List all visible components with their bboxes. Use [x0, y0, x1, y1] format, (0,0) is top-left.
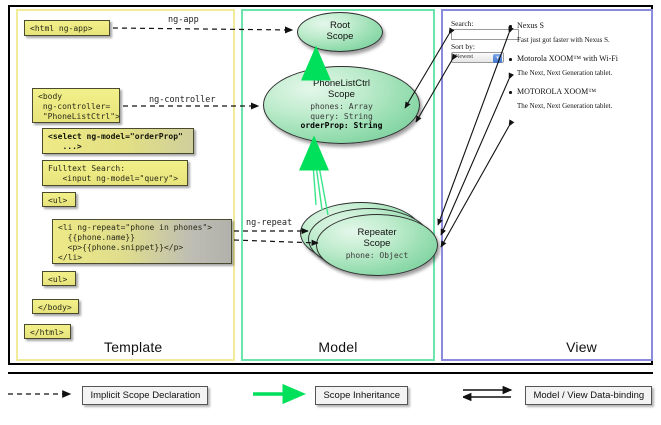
- scope-property: query: String: [264, 112, 419, 122]
- code-box-select-tag: <select ng-model="orderProp" ...>: [42, 128, 194, 154]
- panel-model: Model: [241, 9, 435, 361]
- code-box-body-close-tag: </body>: [32, 299, 79, 314]
- dashed-arrow-icon: [8, 384, 78, 404]
- code-box-html-tag: <html ng-app>: [24, 20, 110, 36]
- repeater-scope-title-2: Scope: [317, 238, 437, 249]
- view-phone-list: Nexus S Fast just got faster with Nexus …: [508, 21, 648, 120]
- legend-label: Implicit Scope Declaration: [82, 386, 208, 405]
- legend-item-implicit-scope-declaration: Implicit Scope Declaration: [8, 384, 208, 405]
- view-content: Search: Sort by: Newest ▾ Nexus S Fast j…: [443, 11, 651, 359]
- panel-view: Search: Sort by: Newest ▾ Nexus S Fast j…: [441, 9, 653, 361]
- legend-item-model-view-data-binding: Model / View Data-binding: [463, 384, 652, 405]
- legend-item-scope-inheritance: Scope Inheritance: [253, 384, 408, 405]
- view-sort-selected-value: Newest: [455, 54, 473, 60]
- scope-phonelistctrl-scope: PhoneListCtrl Scope phones: Array query:…: [263, 66, 420, 144]
- code-box-li-repeat-tag: <li ng-repeat="phone in phones"> {{phone…: [52, 219, 232, 264]
- repeater-scope-title-1: Repeater: [317, 227, 437, 238]
- root-scope-title-1: Root: [298, 20, 382, 31]
- phone-snippet: Fast just got faster with Nexus S.: [508, 35, 648, 45]
- phone-name: MOTOROLA XOOM™: [508, 87, 648, 97]
- label-ng-app: ng-app: [168, 15, 199, 25]
- panel-view-label: View: [443, 339, 651, 355]
- legend-label: Model / View Data-binding: [525, 386, 652, 405]
- phonelistctrl-scope-title-2: Scope: [264, 89, 419, 100]
- phonelistctrl-scope-properties: phones: Array query: String orderProp: S…: [264, 102, 419, 131]
- view-sort-select[interactable]: Newest ▾: [451, 52, 504, 63]
- code-box-ul-open-tag: <ul>: [42, 192, 76, 207]
- scope-property: orderProp: String: [264, 121, 419, 131]
- legend: Implicit Scope Declaration Scope Inherit…: [8, 378, 653, 420]
- list-item[interactable]: Nexus S Fast just got faster with Nexus …: [508, 21, 648, 45]
- scope-property: phones: Array: [264, 102, 419, 112]
- code-box-search-input-tag: Fulltext Search: <input ng-model="query"…: [42, 160, 188, 186]
- code-box-html-close-tag: </html>: [24, 324, 71, 339]
- phone-name: Motorola XOOM™ with Wi-Fi: [508, 54, 648, 64]
- list-item[interactable]: Motorola XOOM™ with Wi-Fi The Next, Next…: [508, 54, 648, 78]
- repeater-scope-properties: phone: Object: [317, 251, 437, 261]
- label-ng-repeat: ng-repeat: [246, 218, 292, 228]
- green-arrow-icon: [253, 384, 311, 404]
- double-arrow-icon: [463, 384, 521, 404]
- label-ng-controller: ng-controller: [149, 95, 216, 105]
- panel-template-label: Template: [18, 339, 233, 355]
- list-item[interactable]: MOTOROLA XOOM™ The Next, Next Generation…: [508, 87, 648, 111]
- code-box-body-tag: <body ng-controller= "PhoneListCtrl">: [32, 88, 120, 123]
- phone-name: Nexus S: [508, 21, 648, 31]
- scope-property: phone: Object: [317, 251, 437, 261]
- chevron-down-icon: ▾: [493, 54, 502, 63]
- scope-root-scope: Root Scope: [297, 12, 383, 52]
- legend-separator: [8, 372, 653, 374]
- scope-repeater-scope: Repeater Scope phone: Object: [316, 214, 438, 276]
- panel-model-label: Model: [243, 339, 433, 355]
- legend-label: Scope Inheritance: [315, 386, 408, 405]
- phone-snippet: The Next, Next Generation tablet.: [508, 68, 648, 78]
- phonelistctrl-scope-title-1: PhoneListCtrl: [264, 78, 419, 89]
- root-scope-title-2: Scope: [298, 31, 382, 42]
- phone-snippet: The Next, Next Generation tablet.: [508, 101, 648, 111]
- code-box-ul-close-tag: <ul>: [42, 271, 76, 286]
- diagram-root: Template <html ng-app> <body ng-controll…: [0, 0, 661, 425]
